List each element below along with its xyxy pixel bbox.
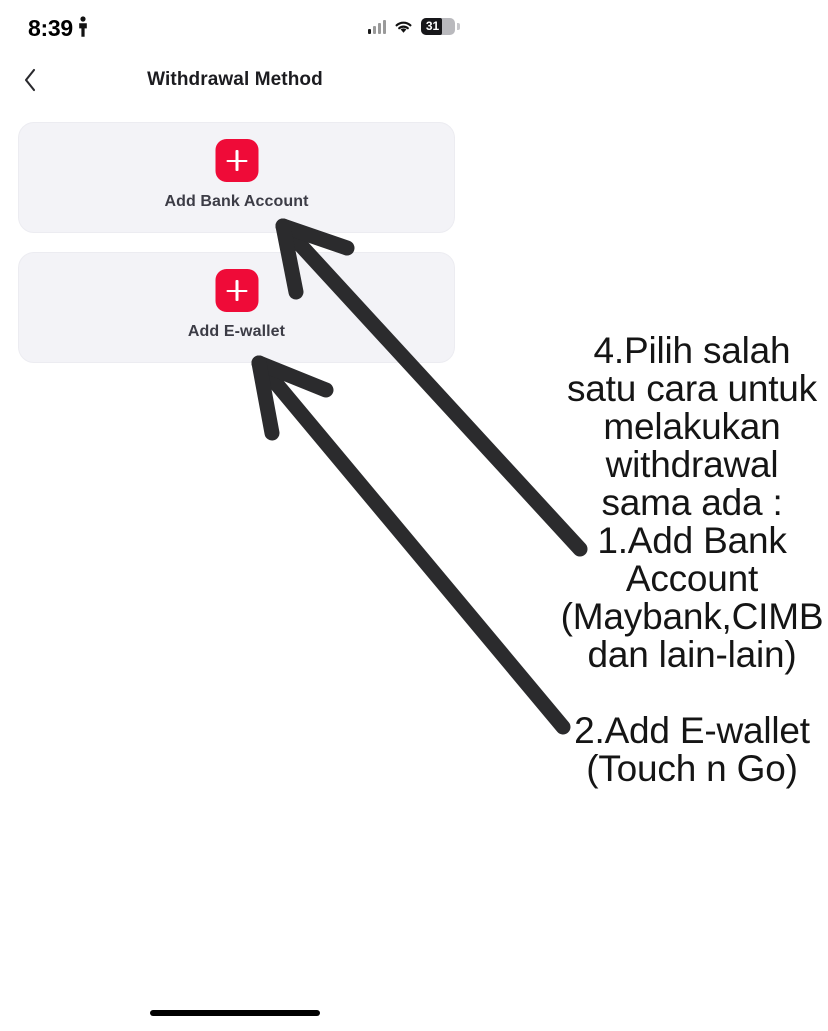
plus-glyph xyxy=(226,150,247,171)
add-e-wallet-card[interactable]: Add E-wallet xyxy=(18,252,455,363)
battery-nub xyxy=(457,23,460,30)
battery-icon: 31 xyxy=(421,18,455,35)
plus-icon[interactable] xyxy=(215,139,258,182)
status-bar-indicators: 31 xyxy=(368,18,455,35)
plus-icon[interactable] xyxy=(215,269,258,312)
page-title: Withdrawal Method xyxy=(0,58,470,102)
add-e-wallet-label: Add E-wallet xyxy=(19,323,454,341)
home-indicator xyxy=(150,1010,320,1016)
cellular-signal-icon xyxy=(368,19,386,34)
status-bar-time: 8:39 xyxy=(28,14,73,42)
status-bar: 8:39 31 xyxy=(0,0,470,56)
instruction-step-4-text: 4.Pilih salah satu cara untuk melakukan … xyxy=(556,332,828,522)
add-bank-account-label: Add Bank Account xyxy=(19,193,454,211)
instruction-option-2-text: 2.Add E-wallet (Touch n Go) xyxy=(556,712,828,788)
instruction-option-1-text: 1.Add Bank Account (Maybank,CIMB dan lai… xyxy=(556,522,828,674)
location-arrow-icon xyxy=(77,16,89,38)
plus-glyph xyxy=(226,280,247,301)
add-bank-account-card[interactable]: Add Bank Account xyxy=(18,122,455,233)
battery-percent-label: 31 xyxy=(423,18,442,35)
wifi-icon xyxy=(393,19,414,35)
navigation-bar: Withdrawal Method xyxy=(0,58,470,104)
